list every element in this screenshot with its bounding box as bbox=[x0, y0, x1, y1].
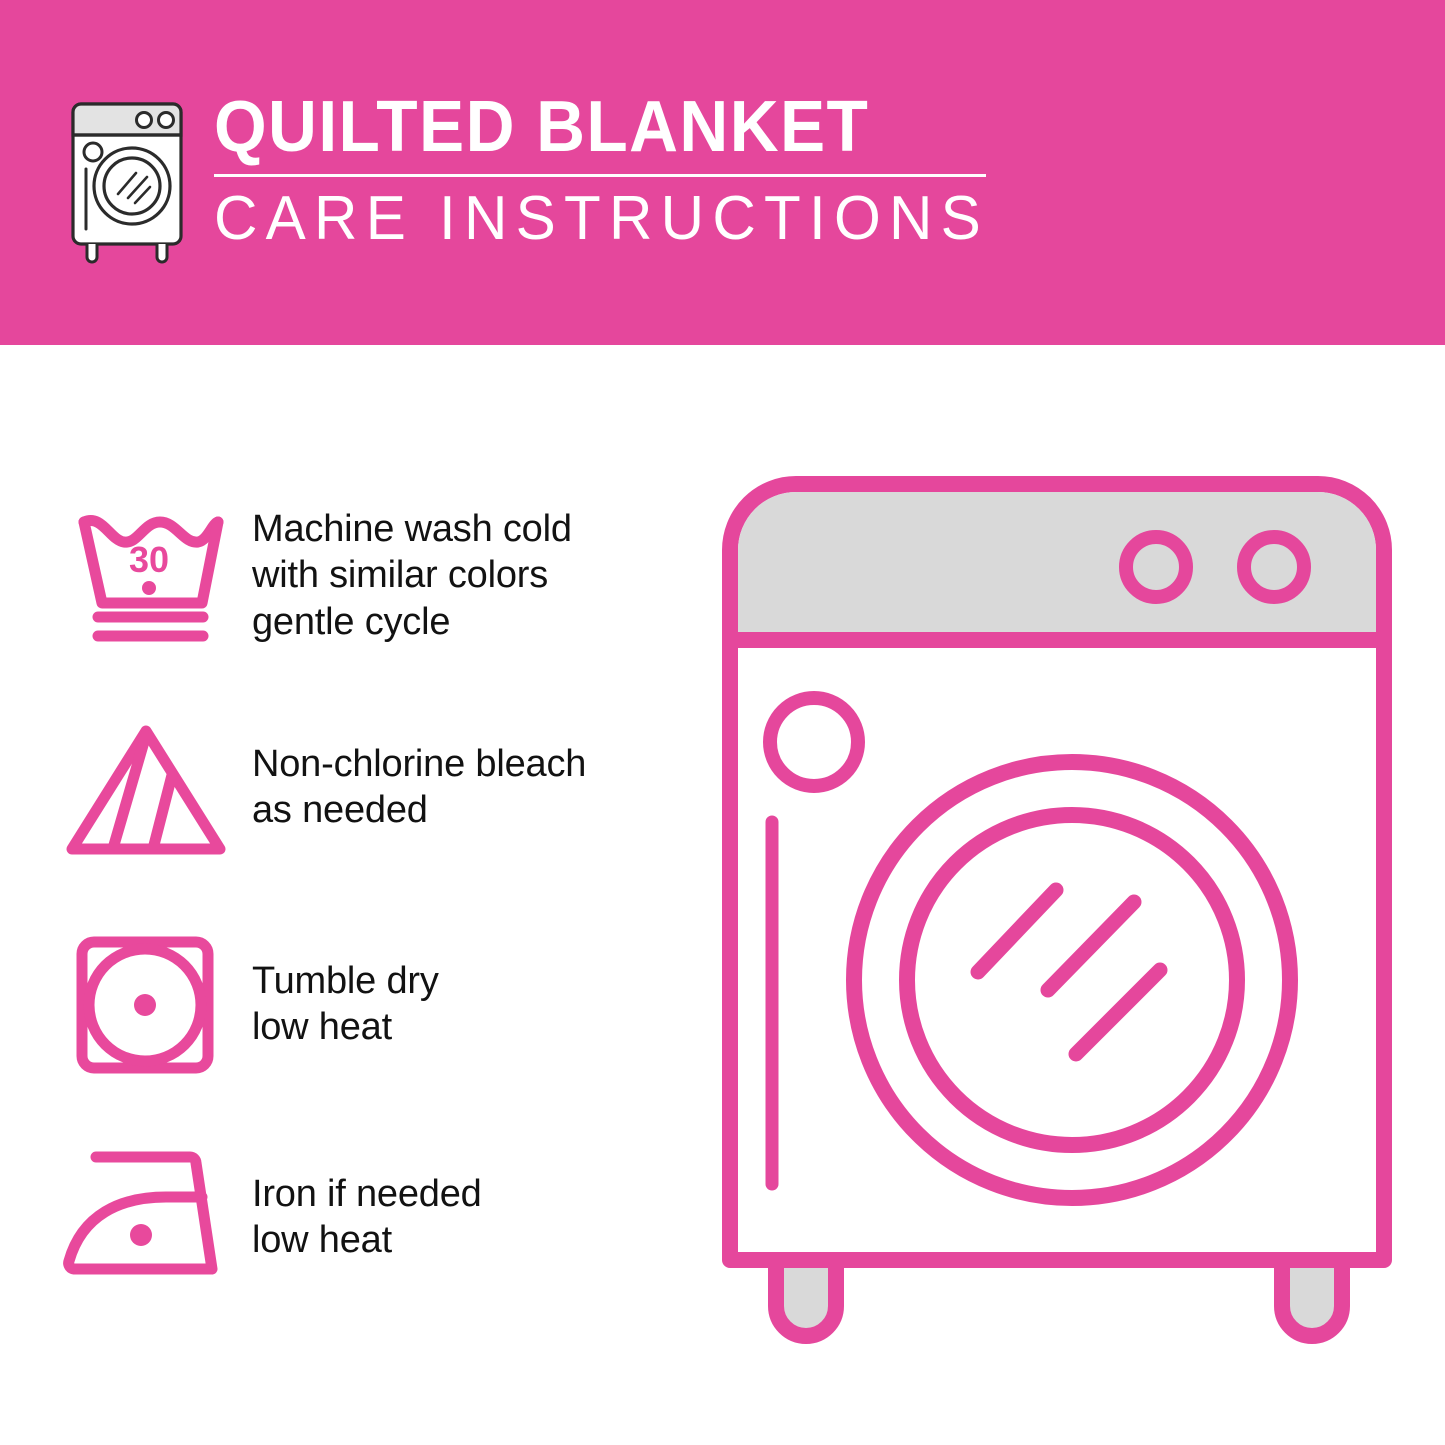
care-label-machine-wash: Machine wash cold with similar colors ge… bbox=[252, 500, 572, 645]
header-content: QUILTED BLANKET CARE INSTRUCTIONS bbox=[62, 95, 1013, 264]
iron-low-heat-icon bbox=[62, 1143, 232, 1293]
non-chlorine-bleach-icon bbox=[62, 713, 232, 863]
knob-right bbox=[1244, 537, 1304, 597]
tumble-dry-low-icon bbox=[62, 930, 232, 1080]
care-label-line: with similar colors bbox=[252, 552, 572, 598]
care-label-line: low heat bbox=[252, 1004, 439, 1050]
drum-inner-ring bbox=[907, 815, 1237, 1145]
care-row-machine-wash: 30 Machine wash cold with similar colors… bbox=[62, 500, 702, 650]
care-label-line: as needed bbox=[252, 787, 586, 833]
page-title: QUILTED BLANKET bbox=[214, 91, 965, 163]
care-label-line: Tumble dry bbox=[252, 958, 439, 1004]
gentle-cycle-dot bbox=[142, 581, 156, 595]
care-instruction-list: 30 Machine wash cold with similar colors… bbox=[0, 345, 700, 1445]
header-title-group: QUILTED BLANKET CARE INSTRUCTIONS bbox=[214, 91, 1013, 251]
care-row-iron: Iron if needed low heat bbox=[62, 1143, 702, 1293]
care-row-bleach: Non-chlorine bleach as needed bbox=[62, 713, 702, 863]
leg-right bbox=[1282, 1260, 1342, 1336]
care-row-tumble-dry: Tumble dry low heat bbox=[62, 930, 702, 1080]
title-divider bbox=[214, 174, 986, 177]
wash-temperature-label: 30 bbox=[129, 539, 169, 580]
leg-left bbox=[776, 1260, 836, 1336]
care-label-line: Machine wash cold bbox=[252, 506, 572, 552]
care-label-line: Non-chlorine bleach bbox=[252, 741, 586, 787]
header-banner: QUILTED BLANKET CARE INSTRUCTIONS bbox=[0, 0, 1445, 345]
low-heat-dot bbox=[130, 1224, 152, 1246]
care-instructions-infographic: QUILTED BLANKET CARE INSTRUCTIONS 30 bbox=[0, 0, 1445, 1445]
knob-left bbox=[1126, 537, 1186, 597]
care-label-line: Iron if needed bbox=[252, 1171, 482, 1217]
low-heat-dot bbox=[134, 994, 156, 1016]
care-label-line: low heat bbox=[252, 1217, 482, 1263]
care-label-line: gentle cycle bbox=[252, 599, 572, 645]
care-label-iron: Iron if needed low heat bbox=[252, 1143, 482, 1264]
indicator-circle bbox=[770, 698, 858, 786]
care-label-tumble-dry: Tumble dry low heat bbox=[252, 930, 439, 1051]
care-label-bleach: Non-chlorine bleach as needed bbox=[252, 713, 586, 834]
page-subtitle: CARE INSTRUCTIONS bbox=[214, 186, 989, 251]
washing-machine-icon bbox=[62, 99, 192, 264]
front-load-washing-machine-illustration bbox=[716, 470, 1416, 1370]
machine-wash-30-gentle-icon: 30 bbox=[62, 500, 232, 650]
